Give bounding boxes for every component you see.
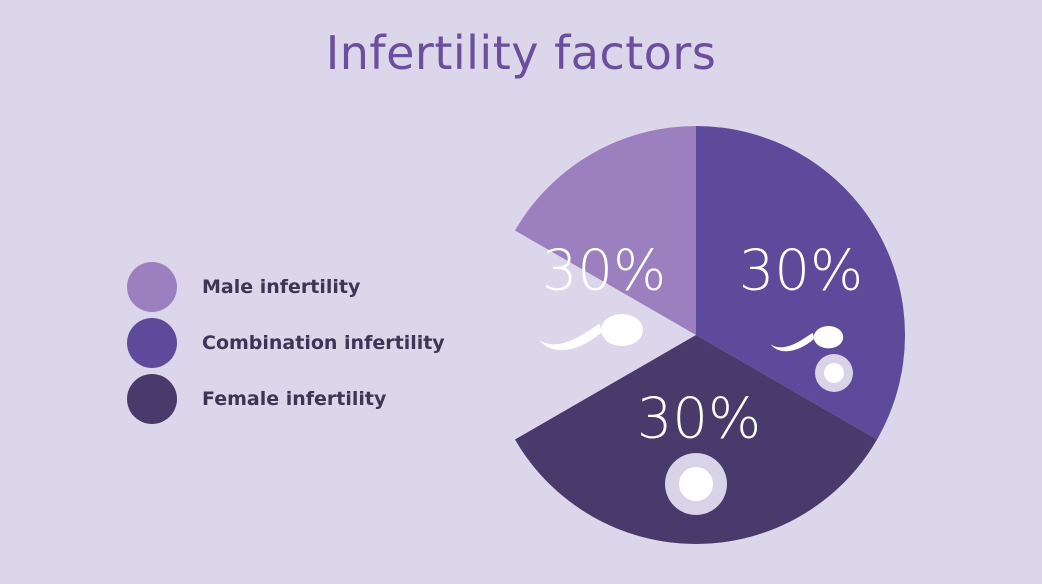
- pie-slice-male[interactable]: [515, 126, 696, 335]
- legend-item-label: Female infertility: [202, 388, 386, 410]
- legend-item-combination[interactable]: Combination infertility: [127, 315, 487, 371]
- slice-value-male: 30%: [542, 238, 666, 303]
- legend-dot-icon: [127, 318, 177, 368]
- legend-item-label: Male infertility: [202, 276, 360, 298]
- legend-item-male[interactable]: Male infertility: [127, 259, 487, 315]
- legend-dot-icon: [127, 374, 177, 424]
- egg-icon: [815, 354, 853, 392]
- page-title: Infertility factors: [0, 26, 1042, 80]
- egg-icon: [665, 453, 727, 515]
- legend-dot-icon: [127, 262, 177, 312]
- slice-value-combination: 30%: [739, 238, 863, 303]
- legend-item-female[interactable]: Female infertility: [127, 371, 487, 427]
- legend-item-label: Combination infertility: [202, 332, 445, 354]
- infographic-canvas: Infertility factors Male infertility Com…: [0, 0, 1042, 584]
- slice-value-female: 30%: [637, 386, 761, 451]
- sperm-icon: [539, 314, 643, 350]
- pie-chart: 30% 30% 30%: [487, 126, 905, 544]
- chart-legend: Male infertility Combination infertility…: [127, 259, 487, 427]
